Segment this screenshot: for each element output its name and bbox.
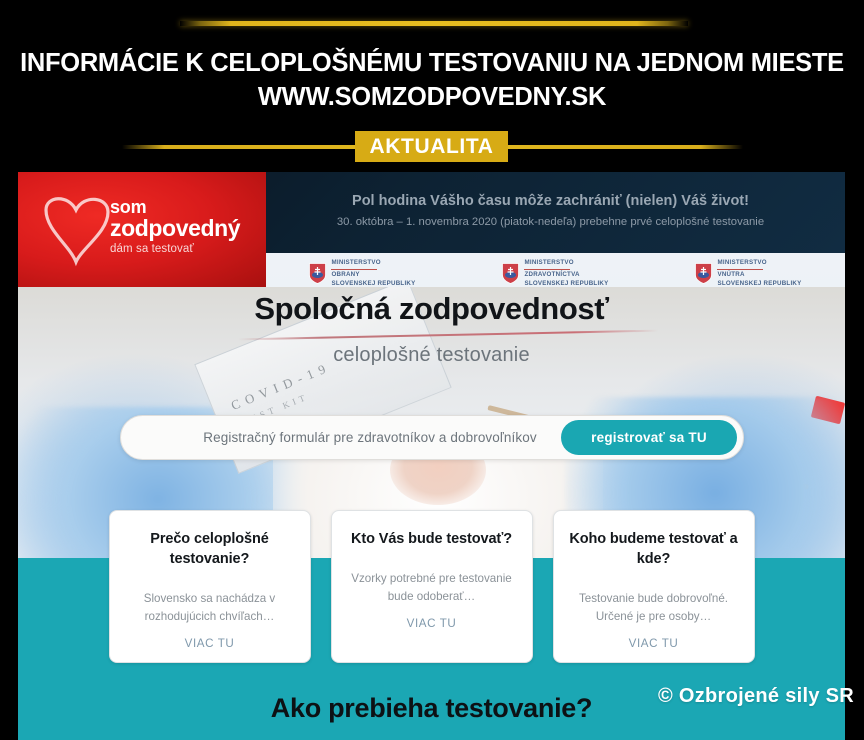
- slovak-coat-of-arms-icon: [309, 263, 326, 284]
- info-card-whom-where[interactable]: Koho budeme testovať a kde? Testovanie b…: [553, 510, 755, 663]
- ministry-health-text: MINISTERSTVO ZDRAVOTNÍCTVA SLOVENSKEJ RE…: [524, 259, 608, 289]
- banner-headline: INFORMÁCIE K CELOPLOŠNÉMU TESTOVANIU NA …: [0, 47, 864, 114]
- aktualita-row: AKTUALITA: [0, 131, 864, 161]
- info-card-who-tests[interactable]: Kto Vás bude testovať? Vzorky potrebné p…: [331, 510, 533, 663]
- ministry-health-mid: ZDRAVOTNÍCTVA: [524, 271, 608, 280]
- top-banner: INFORMÁCIE K CELOPLOŠNÉMU TESTOVANIU NA …: [0, 0, 864, 172]
- card-description: Vzorky potrebné pre testovanie bude odob…: [344, 570, 520, 605]
- gold-divider-top: [180, 21, 688, 26]
- ministry-defence-text: MINISTERSTVO OBRANY SLOVENSKEJ REPUBLIKY: [331, 259, 415, 289]
- website-screenshot: Pol hodina Vášho času môže zachrániť (ni…: [18, 172, 845, 740]
- ministry-health: MINISTERSTVO ZDRAVOTNÍCTVA SLOVENSKEJ RE…: [502, 259, 608, 289]
- ministry-defence: MINISTERSTVO OBRANY SLOVENSKEJ REPUBLIKY: [309, 259, 415, 289]
- ministry-interior-mid: VNÚTRA: [717, 271, 801, 280]
- card-title: Kto Vás bude testovať?: [351, 529, 512, 549]
- card-description: Testovanie bude dobrovoľné. Určené je pr…: [566, 590, 742, 625]
- card-more-link[interactable]: VIAC TU: [407, 617, 457, 630]
- card-title: Prečo celoplošné testovanie?: [122, 529, 298, 569]
- hero-title: Spoločná zodpovednosť: [18, 291, 845, 327]
- watermark: © Ozbrojené sily SR: [658, 685, 854, 708]
- ministry-interior-top: MINISTERSTVO: [717, 259, 801, 268]
- gold-divider-left: [122, 145, 357, 149]
- banner-headline-line2: WWW.SOMZODPOVEDNY.SK: [0, 81, 864, 115]
- logo-line-1: som: [110, 198, 240, 216]
- gold-divider-right: [508, 145, 743, 149]
- ministry-rule: [717, 269, 763, 270]
- slovak-coat-of-arms-icon: [695, 263, 712, 284]
- ministry-interior: MINISTERSTVO VNÚTRA SLOVENSKEJ REPUBLIKY: [695, 259, 801, 289]
- info-cards: Prečo celoplošné testovanie? Slovensko s…: [18, 510, 845, 670]
- ministry-defence-mid: OBRANY: [331, 271, 415, 280]
- heart-icon: [38, 188, 118, 268]
- register-button[interactable]: registrovať sa TU: [561, 420, 737, 455]
- slovak-coat-of-arms-icon: [502, 263, 519, 284]
- card-more-link[interactable]: VIAC TU: [629, 637, 679, 650]
- ministry-rule: [524, 269, 570, 270]
- logo-line-2: zodpovedný: [110, 216, 240, 240]
- info-card-why[interactable]: Prečo celoplošné testovanie? Slovensko s…: [109, 510, 311, 663]
- ministry-defence-top: MINISTERSTVO: [331, 259, 415, 268]
- ministry-health-top: MINISTERSTVO: [524, 259, 608, 268]
- logo-text: som zodpovedný dám sa testovať: [110, 198, 240, 257]
- ministry-interior-text: MINISTERSTVO VNÚTRA SLOVENSKEJ REPUBLIKY: [717, 259, 801, 289]
- swab-tip-photo: [811, 396, 845, 425]
- logo-line-3: dám sa testovať: [110, 242, 240, 257]
- site-subline: 30. októbra – 1. novembra 2020 (piatok-n…: [258, 216, 843, 228]
- screenshot-root: INFORMÁCIE K CELOPLOŠNÉMU TESTOVANIU NA …: [0, 0, 864, 740]
- site-tagline: Pol hodina Vášho času môže zachrániť (ni…: [258, 193, 843, 209]
- hero-subtitle: celoplošné testovanie: [18, 344, 845, 367]
- aktualita-badge: AKTUALITA: [355, 131, 508, 162]
- site-logo[interactable]: som zodpovedný dám sa testovať: [18, 172, 266, 287]
- ministry-rule: [331, 269, 377, 270]
- registration-label: Registračný formulár pre zdravotníkov a …: [121, 430, 561, 445]
- card-description: Slovensko sa nachádza v rozhodujúcich ch…: [122, 590, 298, 625]
- card-more-link[interactable]: VIAC TU: [185, 637, 235, 650]
- registration-bar[interactable]: Registračný formulár pre zdravotníkov a …: [120, 415, 744, 460]
- banner-headline-line1: INFORMÁCIE K CELOPLOŠNÉMU TESTOVANIU NA …: [20, 49, 844, 77]
- card-title: Koho budeme testovať a kde?: [566, 529, 742, 569]
